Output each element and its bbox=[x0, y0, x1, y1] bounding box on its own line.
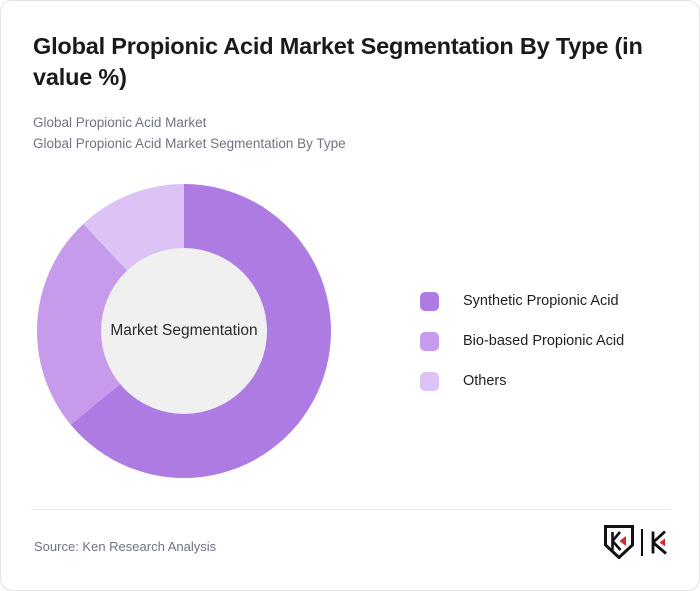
legend-label: Synthetic Propionic Acid bbox=[463, 293, 619, 309]
ken-research-logo bbox=[604, 525, 671, 559]
donut-svg bbox=[37, 184, 331, 478]
donut-hole bbox=[101, 248, 267, 414]
subtitle-block: Global Propionic Acid Market Global Prop… bbox=[33, 113, 633, 155]
legend-item-synthetic-propionic-acid[interactable]: Synthetic Propionic Acid bbox=[420, 281, 624, 321]
source-note: Source: Ken Research Analysis bbox=[34, 539, 216, 554]
donut-chart: Market Segmentation bbox=[37, 184, 331, 478]
subtitle-line-segmentation: Global Propionic Acid Market Segmentatio… bbox=[33, 134, 633, 155]
legend-label: Bio-based Propionic Acid bbox=[463, 333, 624, 349]
legend-swatch-icon bbox=[420, 292, 439, 311]
footer-divider bbox=[31, 509, 671, 510]
legend-item-others[interactable]: Others bbox=[420, 361, 624, 401]
shield-logo-icon bbox=[604, 525, 634, 559]
brand-k-icon bbox=[651, 530, 670, 555]
subtitle-line-market: Global Propionic Acid Market bbox=[33, 113, 633, 134]
page-title: Global Propionic Acid Market Segmentatio… bbox=[33, 31, 663, 93]
chart-legend: Synthetic Propionic Acid Bio-based Propi… bbox=[420, 281, 624, 401]
legend-swatch-icon bbox=[420, 372, 439, 391]
logo-divider bbox=[641, 529, 643, 556]
legend-swatch-icon bbox=[420, 332, 439, 351]
chart-card: Global Propionic Acid Market Segmentatio… bbox=[0, 0, 700, 591]
brand-wordmark bbox=[651, 530, 671, 555]
legend-item-bio-based-propionic-acid[interactable]: Bio-based Propionic Acid bbox=[420, 321, 624, 361]
legend-label: Others bbox=[463, 373, 507, 389]
